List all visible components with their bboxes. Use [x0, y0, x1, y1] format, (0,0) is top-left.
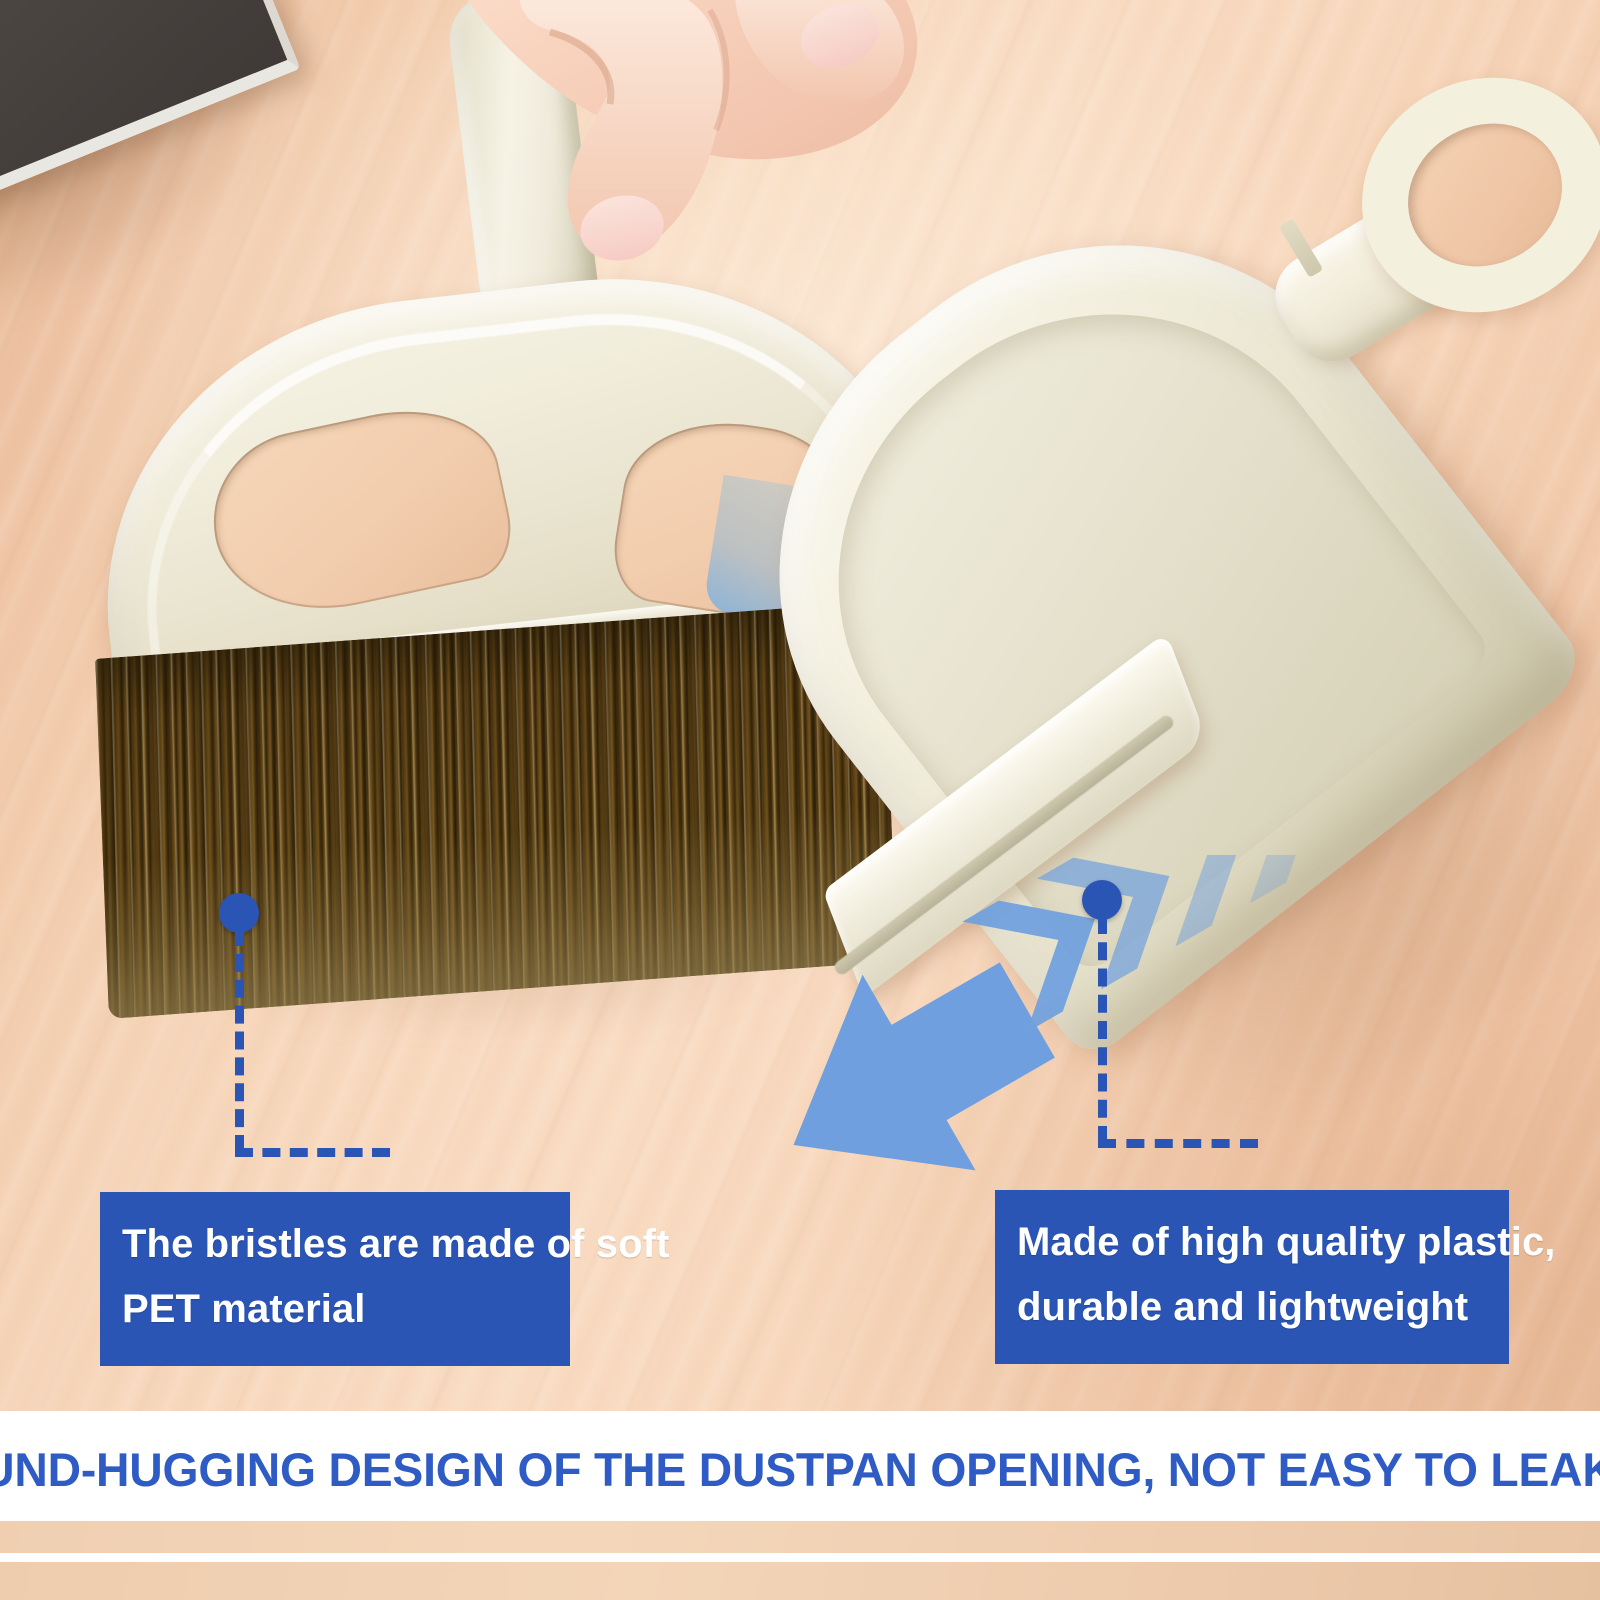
headline-text: GROUND-HUGGING DESIGN OF THE DUSTPAN OPE…	[12, 1418, 1588, 1521]
wood-strip-upper	[0, 1521, 1600, 1553]
wood-strip-lower	[0, 1562, 1600, 1600]
leader-vertical-segment	[235, 928, 244, 1153]
callout-material-line-2: durable and lightweight	[1017, 1275, 1487, 1340]
leader-horizontal-segment	[1098, 1139, 1258, 1148]
white-divider-strip	[0, 1553, 1600, 1562]
callout-bristles-line-1: The bristles are made of soft	[122, 1212, 548, 1277]
product-infographic: The bristles are made of soft PET materi…	[0, 0, 1600, 1600]
callout-material-line-1: Made of high quality plastic,	[1017, 1210, 1487, 1275]
callout-bristles-line-2: PET material	[122, 1277, 548, 1342]
product-photo: The bristles are made of soft PET materi…	[0, 0, 1600, 1411]
leader-horizontal-segment	[235, 1148, 390, 1157]
callout-marker-bristles[interactable]	[219, 893, 259, 933]
callout-box-material: Made of high quality plastic, durable an…	[995, 1190, 1509, 1364]
dustpan	[760, 70, 1600, 1140]
callout-box-bristles: The bristles are made of soft PET materi…	[100, 1192, 570, 1366]
callout-marker-material[interactable]	[1082, 880, 1122, 920]
leader-vertical-segment	[1098, 916, 1107, 1144]
